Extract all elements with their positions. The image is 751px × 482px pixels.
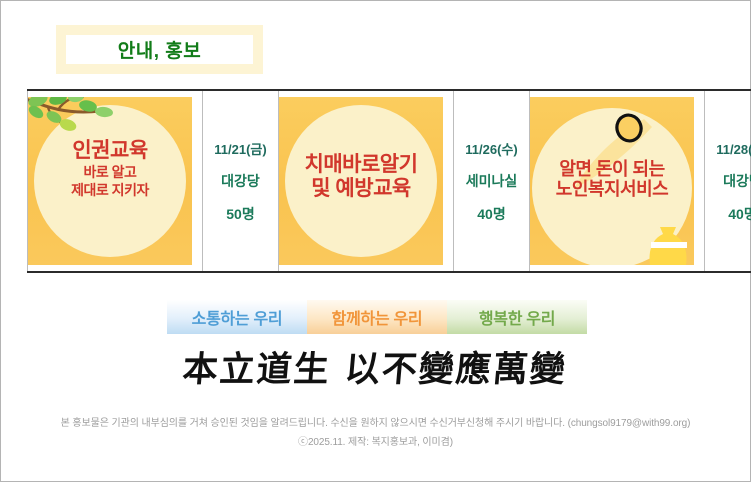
poster-cell-3[interactable]: 알면 돈이 되는 노인복지서비스 — [530, 90, 705, 272]
poster-welfare-service[interactable]: 알면 돈이 되는 노인복지서비스 — [530, 97, 694, 265]
info-cell-3: 11/28(금) 대강당 40명 — [705, 90, 751, 272]
poster-dementia[interactable]: 치매바로알기 및 예방교육 — [279, 97, 443, 265]
slogan-segment-together: 함께하는 우리 — [307, 300, 447, 334]
poster-text-block: 알면 돈이 되는 노인복지서비스 — [530, 159, 694, 199]
poster-subtitle-line2: 제대로 지키자 — [28, 181, 192, 200]
session-date: 11/21(금) — [203, 139, 278, 158]
session-capacity: 40명 — [705, 204, 751, 224]
poster-title-line2: 노인복지서비스 — [530, 179, 694, 199]
leaf-branch-icon — [28, 97, 116, 139]
promo-page: 안내, 홍보 — [0, 0, 751, 482]
footer: 본 홍보물은 기관의 내부심의를 거쳐 승인된 것임을 알려드립니다. 수신을 … — [1, 414, 750, 452]
circled-coin-icon — [612, 111, 646, 145]
slogan-text: 소통하는 우리 — [192, 305, 283, 329]
slogan-text: 함께하는 우리 — [332, 305, 423, 329]
session-capacity: 40명 — [454, 204, 529, 224]
table-row: 인권교육 바로 알고 제대로 지키자 11/21(금) 대강당 50명 — [28, 90, 751, 272]
poster-text-block: 인권교육 바로 알고 제대로 지키자 — [28, 139, 192, 200]
footer-copyright: ⓒ2025.11. 제작: 복지홍보과, 이미겸) — [1, 433, 750, 452]
calligraphy-block: 本立道生 以不變應萬變 — [1, 341, 750, 392]
poster-human-rights[interactable]: 인권교육 바로 알고 제대로 지키자 — [28, 97, 192, 265]
poster-title-line1: 알면 돈이 되는 — [530, 159, 694, 179]
poster-title-line1: 치매바로알기 — [279, 153, 443, 177]
session-date: 11/28(금) — [705, 139, 751, 158]
poster-title: 인권교육 — [28, 139, 192, 163]
schedule-table-wrapper: 인권교육 바로 알고 제대로 지키자 11/21(금) 대강당 50명 — [27, 89, 725, 273]
slogan-segment-communicate: 소통하는 우리 — [167, 300, 307, 334]
session-place: 대강당 — [705, 171, 751, 191]
session-place: 대강당 — [203, 171, 278, 191]
info-cell-2: 11/26(수) 세미나실 40명 — [454, 90, 530, 272]
poster-text-block: 치매바로알기 및 예방교육 — [279, 153, 443, 200]
page-title: 안내, 홍보 — [118, 36, 201, 63]
poster-cell-2[interactable]: 치매바로알기 및 예방교육 — [279, 90, 454, 272]
page-header: 안내, 홍보 — [56, 25, 263, 74]
schedule-table: 인권교육 바로 알고 제대로 지키자 11/21(금) 대강당 50명 — [27, 89, 751, 273]
slogan-segment-happy: 행복한 우리 — [447, 300, 587, 334]
header-badge: 안내, 홍보 — [56, 25, 263, 74]
slogan-text: 행복한 우리 — [479, 305, 555, 329]
session-place: 세미나실 — [454, 171, 529, 191]
info-cell-1: 11/21(금) 대강당 50명 — [203, 90, 279, 272]
footer-notice: 본 홍보물은 기관의 내부심의를 거쳐 승인된 것임을 알려드립니다. 수신을 … — [1, 414, 750, 433]
poster-cell-1[interactable]: 인권교육 바로 알고 제대로 지키자 — [28, 90, 203, 272]
slogan-banner: 소통하는 우리 함께하는 우리 행복한 우리 — [167, 300, 587, 334]
poster-subtitle-line1: 바로 알고 — [28, 163, 192, 182]
session-capacity: 50명 — [203, 204, 278, 224]
calligraphy-text: 本立道生 以不變應萬變 — [181, 341, 570, 392]
poster-title-line2: 및 예방교육 — [279, 177, 443, 201]
session-date: 11/26(수) — [454, 139, 529, 158]
money-bag-icon — [646, 219, 690, 265]
